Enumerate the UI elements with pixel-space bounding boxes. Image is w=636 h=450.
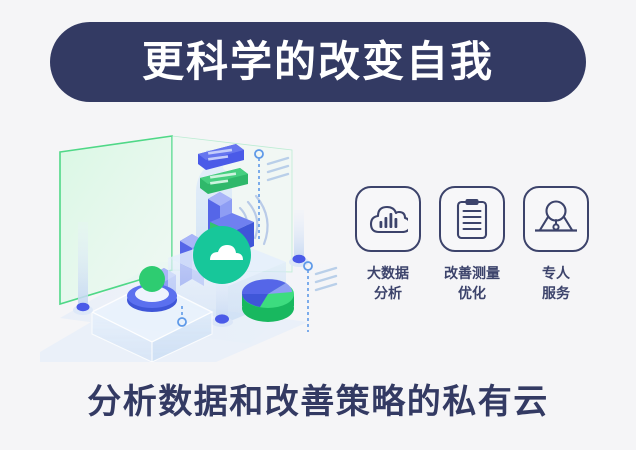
- service-person-icon: [523, 186, 589, 252]
- clipboard-icon: [439, 186, 505, 252]
- hero-illustration: [40, 122, 350, 362]
- feature-list: 大数据 分析 改善测量 优化: [352, 186, 592, 304]
- pie-chart-3d: [242, 279, 294, 322]
- feature-dedicated-service[interactable]: 专人 服务: [520, 186, 592, 304]
- page-title: 更科学的改变自我: [142, 41, 494, 83]
- footer-tagline: 分析数据和改善策略的私有云: [0, 383, 636, 422]
- feature-big-data-analysis[interactable]: 大数据 分析: [352, 186, 424, 304]
- header-banner-pill: 更科学的改变自我: [50, 22, 586, 102]
- feature-improvement-measurement[interactable]: 改善测量 优化: [436, 186, 508, 304]
- feature-label-improvement-measurement: 改善测量 优化: [444, 263, 500, 304]
- cloud-bar-chart-icon: [355, 186, 421, 252]
- feature-label-big-data-analysis: 大数据 分析: [367, 263, 409, 304]
- poster-canvas: 更科学的改变自我: [0, 0, 636, 450]
- feature-label-dedicated-service: 专人 服务: [542, 263, 570, 304]
